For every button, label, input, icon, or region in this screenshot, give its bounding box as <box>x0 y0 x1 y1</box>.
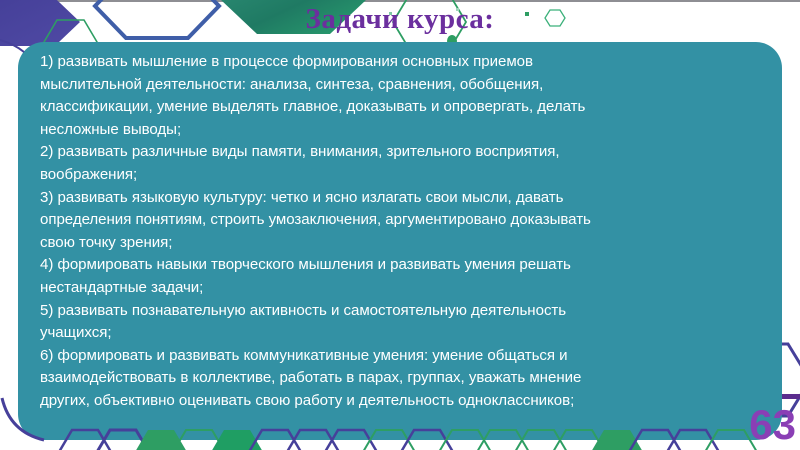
body-line: взаимодействовать в коллективе, работать… <box>40 367 762 390</box>
body-line: определения понятиям, строить умозаключе… <box>40 209 762 232</box>
body-line: 3) развивать языковую культуру: четко и … <box>40 187 762 210</box>
curve-violet-mid-left <box>0 40 24 52</box>
body-line: свою точку зрения; <box>40 232 762 255</box>
body-line: воображения; <box>40 164 762 187</box>
body-line: 4) формировать навыки творческого мышлен… <box>40 254 762 277</box>
content-text-block: 1) развивать мышление в процессе формиро… <box>18 42 782 413</box>
body-line: нестандартные задачи; <box>40 277 762 300</box>
body-line: 5) развивать познавательную активность и… <box>40 300 762 323</box>
body-line: других, объективно оценивать свою работу… <box>40 390 762 413</box>
page-title: Задачи курса: <box>0 1 800 37</box>
body-line: учащихся; <box>40 322 762 345</box>
content-panel: 1) развивать мышление в процессе формиро… <box>18 42 782 440</box>
body-line: 1) развивать мышление в процессе формиро… <box>40 51 762 74</box>
body-line: несложные выводы; <box>40 119 762 142</box>
body-line: классификации, умение выделять главное, … <box>40 96 762 119</box>
body-line: 2) развивать различные виды памяти, вним… <box>40 141 762 164</box>
body-line: 6) формировать и развивать коммуникативн… <box>40 345 762 368</box>
page-number: 63 <box>749 404 796 446</box>
slide-canvas: Задачи курса: 1) развивать мышление в пр… <box>0 0 800 450</box>
body-line: мыслительной деятельности: анализа, синт… <box>40 74 762 97</box>
